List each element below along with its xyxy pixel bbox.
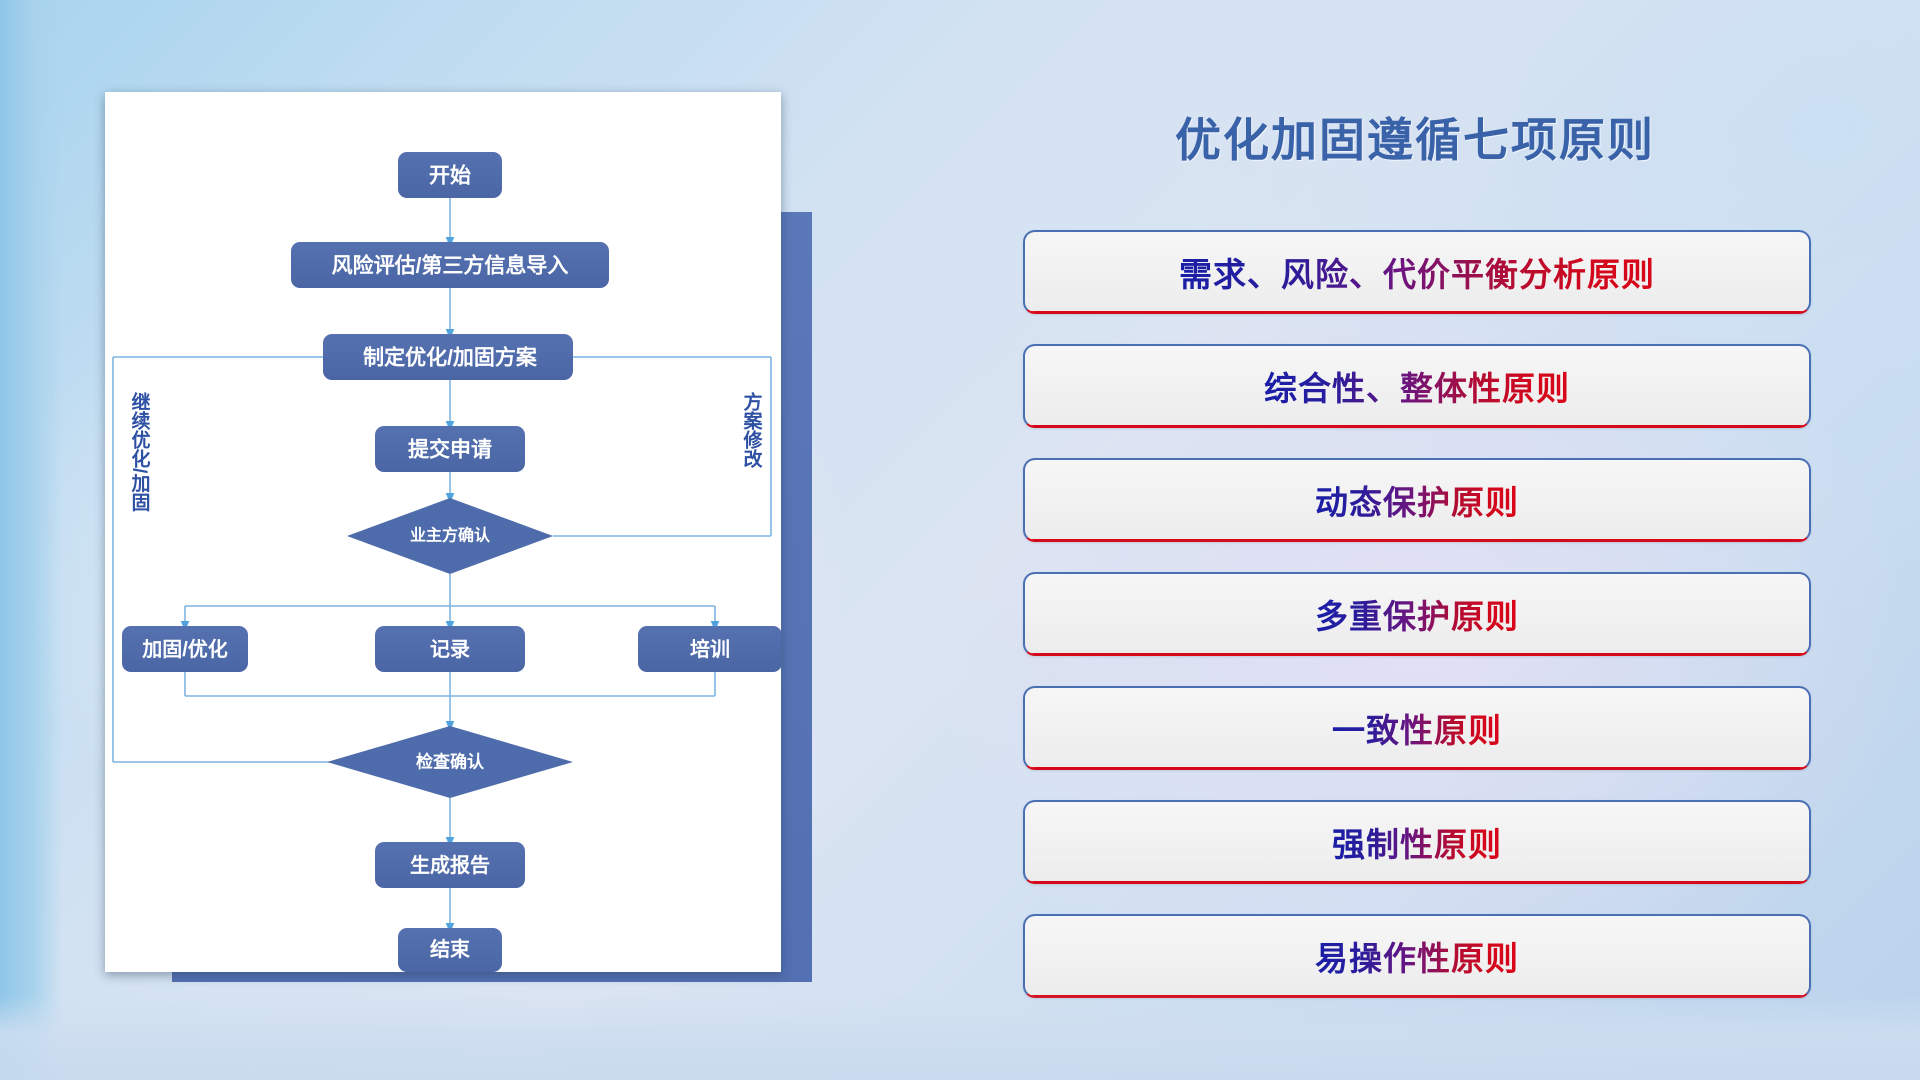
- flow-node-end[interactable]: 结束: [398, 928, 502, 972]
- principle-card[interactable]: 综合性、整体性原则: [1023, 344, 1811, 428]
- slide-canvas: 开始 风险评估/第三方信息导入 制定优化/加固方案 提交申请 业主方确认: [0, 0, 1920, 1080]
- principle-label: 动态保护原则: [1315, 476, 1519, 524]
- flow-node-submit-label: 提交申请: [408, 438, 492, 462]
- flow-node-reinforce-label: 加固/优化: [141, 637, 228, 661]
- principles-title: 优化加固遵循七项原则: [1020, 104, 1810, 170]
- flow-node-assess[interactable]: 风险评估/第三方信息导入: [291, 242, 609, 288]
- flow-node-plan[interactable]: 制定优化/加固方案: [323, 334, 573, 380]
- principle-card[interactable]: 需求、风险、代价平衡分析原则: [1023, 230, 1811, 314]
- flow-node-report-label: 生成报告: [410, 853, 490, 877]
- flow-node-record[interactable]: 记录: [375, 626, 525, 672]
- flow-node-start-label: 开始: [429, 164, 471, 188]
- principle-label: 多重保护原则: [1315, 590, 1519, 638]
- flow-node-plan-label: 制定优化/加固方案: [363, 346, 538, 370]
- principle-card[interactable]: 易操作性原则: [1023, 914, 1811, 998]
- principle-card[interactable]: 多重保护原则: [1023, 572, 1811, 656]
- principle-card[interactable]: 动态保护原则: [1023, 458, 1811, 542]
- flow-node-training[interactable]: 培训: [638, 626, 781, 672]
- flow-node-owner-confirm[interactable]: 业主方确认: [347, 498, 553, 574]
- flow-node-assess-label: 风险评估/第三方信息导入: [332, 254, 569, 278]
- flow-node-owner-confirm-label: 业主方确认: [410, 526, 491, 545]
- flowchart-svg: 开始 风险评估/第三方信息导入 制定优化/加固方案 提交申请 业主方确认: [105, 92, 781, 972]
- principle-label: 强制性原则: [1332, 818, 1502, 866]
- flow-node-reinforce[interactable]: 加固/优化: [122, 626, 248, 672]
- flow-node-training-label: 培训: [690, 637, 730, 661]
- flow-node-check-label: 检查确认: [416, 752, 485, 772]
- flow-node-end-label: 结束: [430, 937, 471, 961]
- principle-label: 易操作性原则: [1315, 932, 1519, 980]
- flow-node-submit[interactable]: 提交申请: [375, 426, 525, 472]
- flow-node-record-label: 记录: [430, 638, 470, 661]
- flow-node-start[interactable]: 开始: [398, 152, 502, 198]
- principle-label: 需求、风险、代价平衡分析原则: [1179, 248, 1655, 296]
- principle-label: 一致性原则: [1332, 704, 1502, 752]
- flow-edge-label-plan-revision: 方案修改: [741, 391, 764, 469]
- flow-node-report[interactable]: 生成报告: [375, 842, 525, 888]
- flowchart-panel: 开始 风险评估/第三方信息导入 制定优化/加固方案 提交申请 业主方确认: [105, 92, 781, 972]
- principles-list: 需求、风险、代价平衡分析原则 综合性、整体性原则 动态保护原则 多重保护原则 一…: [1023, 230, 1811, 1028]
- principle-card[interactable]: 强制性原则: [1023, 800, 1811, 884]
- principle-label: 综合性、整体性原则: [1264, 362, 1570, 410]
- flow-edge-label-continue-optimize: 继续优化/加固: [129, 391, 152, 512]
- principle-card[interactable]: 一致性原则: [1023, 686, 1811, 770]
- flow-node-check[interactable]: 检查确认: [327, 726, 573, 798]
